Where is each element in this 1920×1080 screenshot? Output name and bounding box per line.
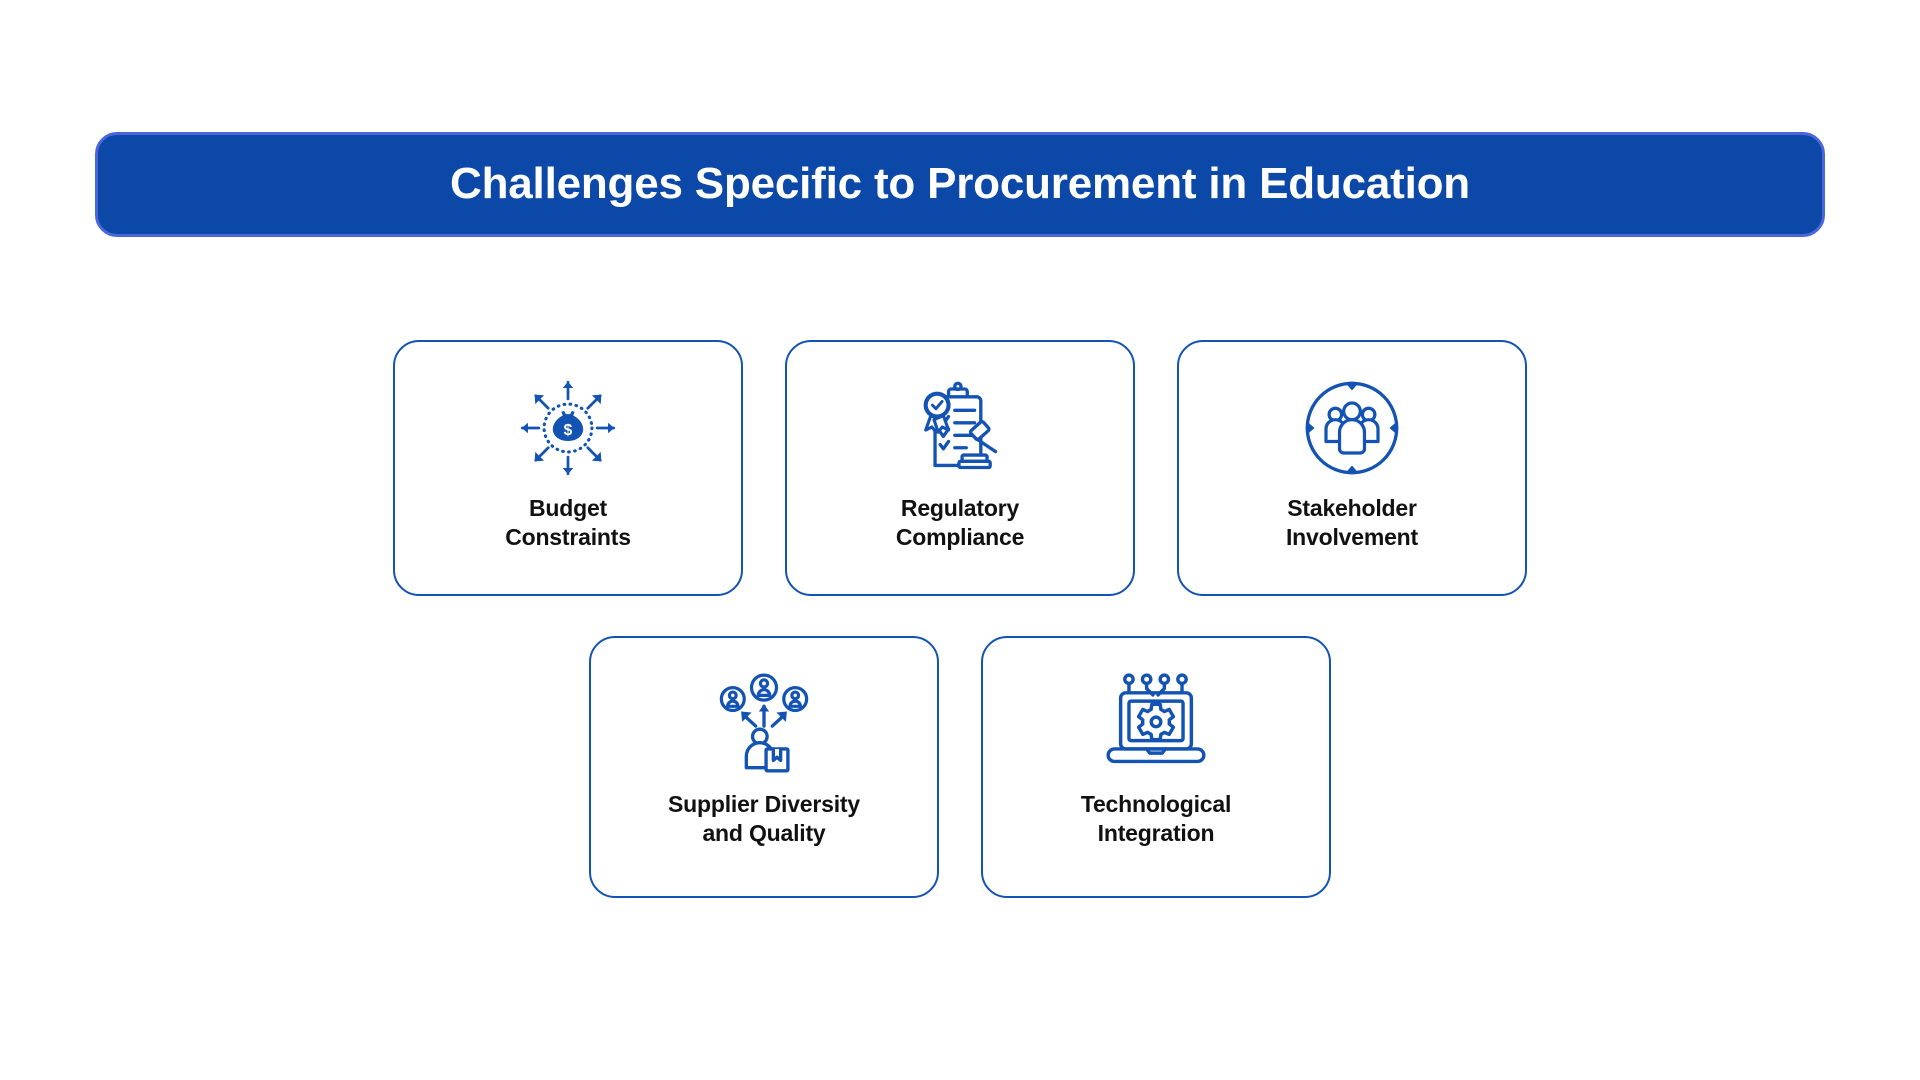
card-label: Technological Integration	[1067, 790, 1245, 849]
people-group-cycle-arrows-icon	[1300, 376, 1404, 480]
card-row-2: Supplier Diversity and Quality	[0, 636, 1920, 898]
card-label: Regulatory Compliance	[882, 494, 1038, 553]
card-supplier-diversity-and-quality[interactable]: Supplier Diversity and Quality	[589, 636, 939, 898]
money-bag-expanding-arrows-icon: $	[516, 376, 620, 480]
card-label: Stakeholder Involvement	[1272, 494, 1432, 553]
svg-text:$: $	[564, 422, 573, 439]
slide-canvas: Challenges Specific to Procurement in Ed…	[0, 0, 1920, 1080]
card-regulatory-compliance[interactable]: Regulatory Compliance	[785, 340, 1135, 596]
laptop-gear-circuit-icon	[1104, 672, 1208, 776]
card-row-1: $ Budget Constraints	[0, 340, 1920, 596]
card-label: Budget Constraints	[491, 494, 645, 553]
supplier-network-package-icon	[712, 672, 816, 776]
title-banner: Challenges Specific to Procurement in Ed…	[95, 132, 1825, 237]
card-label: Supplier Diversity and Quality	[654, 790, 874, 849]
card-grid: $ Budget Constraints	[0, 340, 1920, 898]
card-technological-integration[interactable]: Technological Integration	[981, 636, 1331, 898]
clipboard-checklist-gavel-award-icon	[908, 376, 1012, 480]
card-budget-constraints[interactable]: $ Budget Constraints	[393, 340, 743, 596]
page-title: Challenges Specific to Procurement in Ed…	[450, 161, 1470, 207]
card-stakeholder-involvement[interactable]: Stakeholder Involvement	[1177, 340, 1527, 596]
